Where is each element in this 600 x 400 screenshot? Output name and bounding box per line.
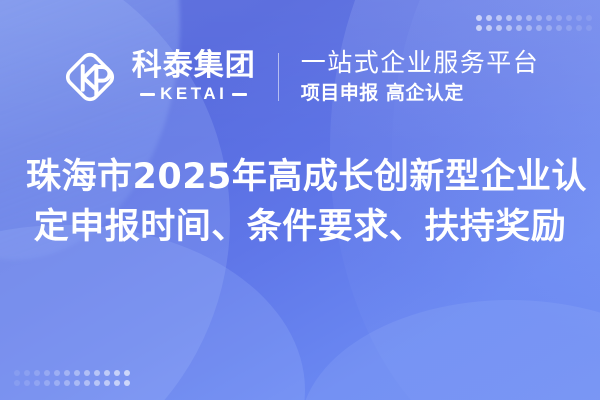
decor-dot xyxy=(74,380,80,386)
decor-dot xyxy=(496,25,502,31)
promo-banner: 科泰集团 KETAI 一站式企业服务平台 项目申报 高企认定 珠海市2025年高… xyxy=(0,0,600,400)
decor-dot xyxy=(94,370,100,376)
decor-dot xyxy=(104,370,110,376)
ketai-logo-icon xyxy=(61,48,119,106)
decor-dot xyxy=(546,25,552,31)
decor-dot xyxy=(84,370,90,376)
decor-dot-grid-top-right xyxy=(476,15,592,31)
decor-dot xyxy=(506,15,512,21)
header-divider xyxy=(278,53,279,101)
headline-line-2: 定申报时间、条件要求、扶持奖励 xyxy=(26,202,574,252)
decor-blob-bottom-right xyxy=(300,300,600,400)
tagline-secondary: 项目申报 高企认定 xyxy=(301,81,540,106)
decor-dot xyxy=(576,15,582,21)
decor-dot xyxy=(516,15,522,21)
decor-dot xyxy=(24,370,30,376)
decor-dot xyxy=(526,15,532,21)
decor-dot-grid-bottom-left xyxy=(14,370,130,386)
decor-dot xyxy=(536,15,542,21)
decor-dot xyxy=(84,380,90,386)
decor-dot xyxy=(74,370,80,376)
wordmark-rule-left xyxy=(140,93,155,96)
decor-dot xyxy=(64,370,70,376)
decor-dot xyxy=(34,370,40,376)
decor-dot xyxy=(586,25,592,31)
decor-dot xyxy=(566,15,572,21)
banner-header: 科泰集团 KETAI 一站式企业服务平台 项目申报 高企认定 xyxy=(0,32,600,122)
decor-dot xyxy=(114,380,120,386)
dot-row xyxy=(476,15,592,21)
decor-dot xyxy=(114,370,120,376)
decor-dot xyxy=(516,25,522,31)
headline-block: 珠海市2025年高成长创新型企业认 定申报时间、条件要求、扶持奖励 xyxy=(0,152,600,252)
decor-dot xyxy=(44,370,50,376)
decor-dot xyxy=(576,25,582,31)
decor-dot xyxy=(556,15,562,21)
brand-logo: 科泰集团 KETAI xyxy=(61,48,256,106)
brand-name-en: KETAI xyxy=(160,84,227,104)
tagline-block: 一站式企业服务平台 项目申报 高企认定 xyxy=(301,49,540,105)
decor-dot xyxy=(124,380,130,386)
decor-dot xyxy=(54,380,60,386)
decor-dot xyxy=(14,370,20,376)
decor-dot xyxy=(566,25,572,31)
decor-dot xyxy=(546,15,552,21)
brand-wordmark: 科泰集团 KETAI xyxy=(132,50,256,105)
decor-dot xyxy=(24,380,30,386)
decor-dot xyxy=(536,25,542,31)
decor-dot xyxy=(486,15,492,21)
brand-name-cn: 科泰集团 xyxy=(132,50,256,82)
decor-dot xyxy=(476,25,482,31)
decor-dot xyxy=(496,15,502,21)
dot-row xyxy=(14,370,130,376)
tagline-primary: 一站式企业服务平台 xyxy=(301,49,540,78)
decor-dot xyxy=(14,380,20,386)
decor-dot xyxy=(34,380,40,386)
decor-dot xyxy=(44,380,50,386)
decor-dot xyxy=(556,25,562,31)
wordmark-rule-right xyxy=(232,93,247,96)
decor-dot xyxy=(526,25,532,31)
decor-dot xyxy=(506,25,512,31)
decor-dot xyxy=(54,370,60,376)
decor-dot xyxy=(104,380,110,386)
decor-dot xyxy=(586,15,592,21)
decor-dot xyxy=(124,370,130,376)
dot-row xyxy=(476,25,592,31)
decor-dot xyxy=(94,380,100,386)
decor-dot xyxy=(64,380,70,386)
decor-dot xyxy=(476,15,482,21)
brand-name-en-row: KETAI xyxy=(140,84,247,104)
dot-row xyxy=(14,380,130,386)
decor-dot xyxy=(486,25,492,31)
headline-line-1: 珠海市2025年高成长创新型企业认 xyxy=(26,152,574,202)
